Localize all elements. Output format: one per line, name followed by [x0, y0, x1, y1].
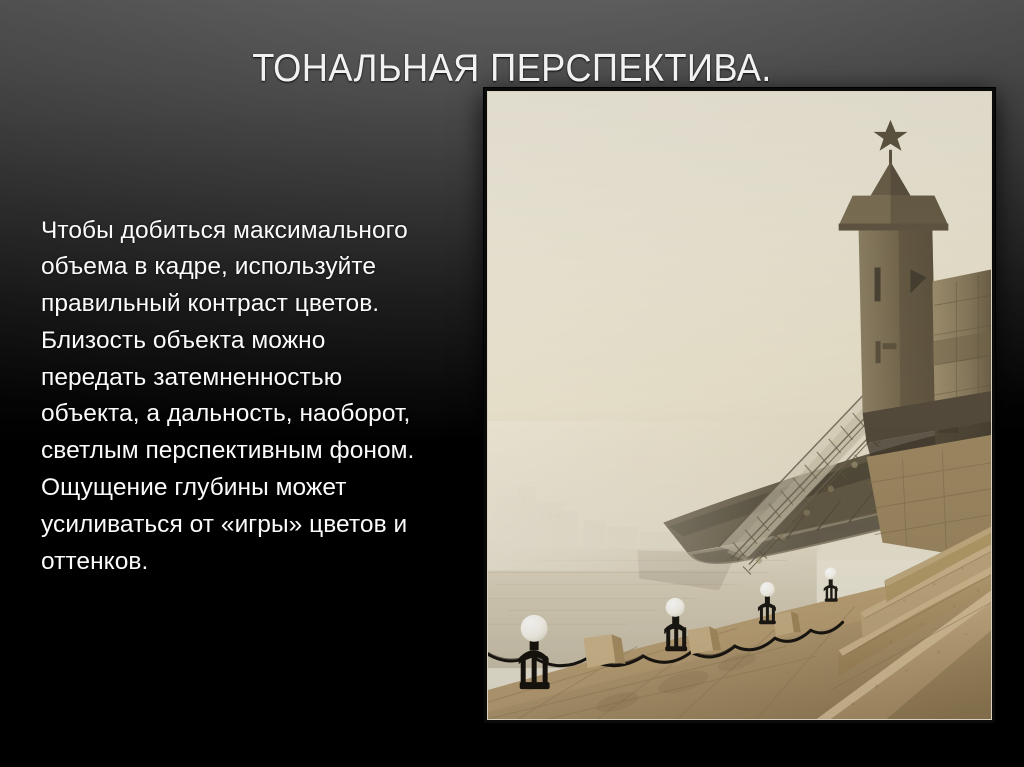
photo-frame: [484, 88, 995, 723]
slide-canvas: ТОНАЛЬНАЯ ПЕРСПЕКТИВА. Чтобы добиться ма…: [0, 0, 1024, 767]
page-title: ТОНАЛЬНАЯ ПЕРСПЕКТИВА.: [36, 46, 988, 92]
photo-artwork: [488, 92, 991, 719]
tonal-wash: [488, 92, 991, 719]
photograph: [488, 92, 991, 719]
photo-inner-border: [487, 91, 992, 720]
body-paragraph: Чтобы добиться максимального объема в ка…: [41, 213, 431, 581]
